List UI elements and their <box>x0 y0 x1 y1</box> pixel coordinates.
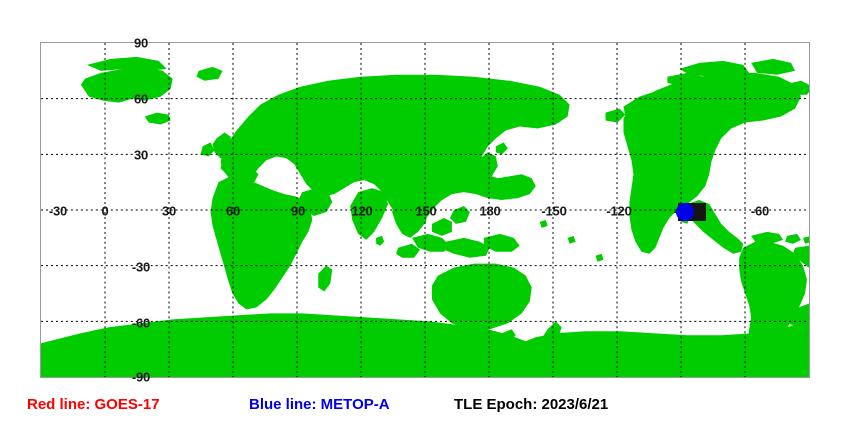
lon-tick-180: 180 <box>479 205 500 218</box>
lon-tick-neg150: -150 <box>541 205 566 218</box>
world-map-panel[interactable]: 90 60 30 -30 -60 -90 -30 0 30 60 90 120 … <box>40 42 810 378</box>
lon-tick-30: 30 <box>162 205 176 218</box>
lon-tick-90: 90 <box>291 205 305 218</box>
lon-tick-neg30: -30 <box>49 205 67 218</box>
lat-tick-90: 90 <box>134 37 148 50</box>
satellite-map-app: 90 60 30 -30 -60 -90 -30 0 30 60 90 120 … <box>0 0 850 425</box>
lon-tick-150: 150 <box>415 205 436 218</box>
legend-red-line-goes17: Red line: GOES-17 <box>27 397 160 412</box>
lon-tick-neg60: -60 <box>751 205 769 218</box>
legend-tle-epoch: TLE Epoch: 2023/6/21 <box>454 397 608 412</box>
lon-tick-neg120: -120 <box>606 205 631 218</box>
legend-bar: Red line: GOES-17 Blue line: METOP-A TLE… <box>0 392 850 425</box>
lon-tick-60: 60 <box>226 205 240 218</box>
legend-blue-line-metopa: Blue line: METOP-A <box>249 397 390 412</box>
lat-tick-30: 30 <box>134 149 148 162</box>
lat-tick-neg90: -90 <box>132 371 150 384</box>
lat-tick-60: 60 <box>134 93 148 106</box>
lat-tick-neg60: -60 <box>132 317 150 330</box>
lon-tick-0: 0 <box>101 205 108 218</box>
lat-tick-neg30: -30 <box>132 261 150 274</box>
lon-tick-120: 120 <box>351 205 372 218</box>
satellite-marker-metop-a[interactable] <box>676 203 694 221</box>
